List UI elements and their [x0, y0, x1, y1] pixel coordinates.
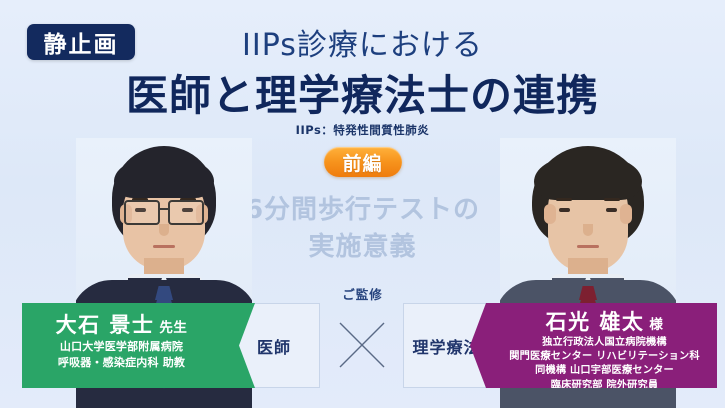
hair-fringe [534, 158, 642, 200]
presentation-slide: 静止画 IIPs診療における 医師と理学療法士の連携 IIPs：特発性間質性肺炎… [0, 0, 725, 408]
speaker-right-name: 石光 雄太 [546, 310, 645, 334]
lens-left [124, 200, 160, 225]
role-doctor-label: 医師 [257, 334, 291, 358]
speaker-right-name-row: 石光 雄太様 [500, 310, 709, 335]
mouth-shape [153, 245, 175, 248]
speaker-right-honorific: 様 [649, 317, 663, 333]
speaker-left-name: 大石 景士 [56, 313, 155, 337]
lens-right [168, 200, 204, 225]
speaker-left-affiliation-line-1: 山口大学医学部附属病院 [30, 340, 213, 355]
eyebrow-left [556, 198, 572, 201]
speaker-left-name-row: 大石 景士先生 [30, 313, 213, 338]
speaker-card-left: 大石 景士先生 山口大学医学部附属病院 呼吸器・感染症内科 助教 [22, 303, 255, 388]
nose-shape [159, 224, 169, 236]
title-line-1: IIPs診療における [0, 20, 725, 64]
ear-left [544, 204, 556, 224]
title-abbreviation-note: IIPs：特発性間質性肺炎 [0, 122, 725, 138]
eye-right [606, 208, 617, 212]
glasses-icon [121, 200, 207, 222]
eyebrow-right [604, 198, 620, 201]
part-badge: 前編 [324, 147, 402, 177]
title-line-2: 医師と理学療法士の連携 [0, 62, 725, 123]
hair-fringe [114, 160, 214, 198]
speaker-right-affiliation-line-3: 同機構 山口宇部医療センター [500, 364, 709, 377]
speaker-right-affiliation-line-1: 独立行政法人国立病院機構 [500, 336, 709, 349]
speaker-card-right: 石光 雄太様 独立行政法人国立病院機構 関門医療センター リハビリテーション科 … [470, 303, 717, 388]
x-cross-icon [337, 320, 387, 370]
mouth-shape [577, 245, 599, 248]
supervision-label: ご監修 [0, 284, 725, 303]
speaker-left-honorific: 先生 [159, 320, 187, 336]
speaker-right-affiliation-line-2: 関門医療センター リハビリテーション科 [500, 350, 709, 363]
ear-right [620, 204, 632, 224]
eye-left [559, 208, 570, 212]
nose-shape [583, 224, 593, 236]
speaker-left-affiliation-line-2: 呼吸器・感染症内科 助教 [30, 356, 213, 371]
